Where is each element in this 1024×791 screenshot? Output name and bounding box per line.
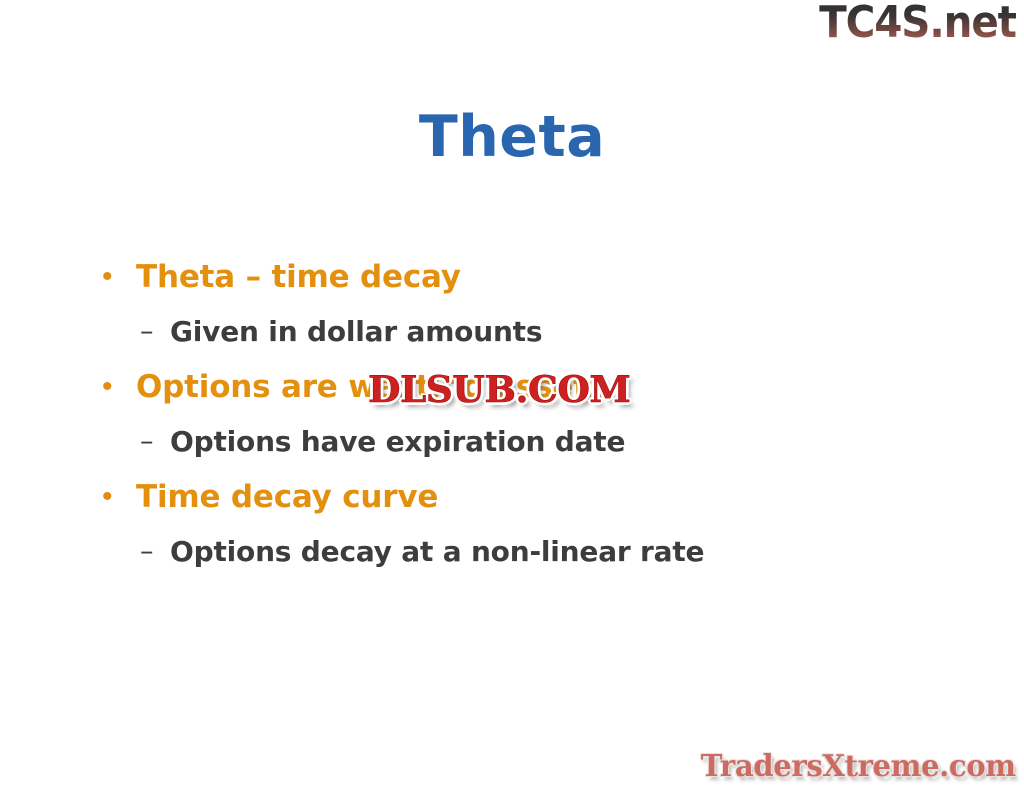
tc4s-brand-logo: TC4S.net [819, 0, 1016, 48]
list-item-label: Options have expiration date [170, 416, 625, 468]
list-item: • Time decay curve [96, 470, 916, 524]
bullet-marker-icon: • [96, 470, 136, 524]
list-item-label: Time decay curve [136, 470, 438, 524]
list-item: – Given in dollar amounts [96, 306, 916, 358]
dlsub-watermark: DLSUB.COM [368, 367, 630, 413]
tradersxtreme-footer-logo: TradersXtreme.com [701, 747, 1016, 787]
list-item: – Options have expiration date [96, 416, 916, 468]
list-item: • Theta – time decay [96, 250, 916, 304]
bullet-list: • Theta – time decay – Given in dollar a… [96, 250, 916, 580]
list-item-label: Given in dollar amounts [170, 306, 542, 358]
bullet-marker-icon: • [96, 250, 136, 304]
list-item-label: Options decay at a non-linear rate [170, 526, 704, 578]
page-title: Theta [0, 104, 1024, 170]
list-item: – Options decay at a non-linear rate [96, 526, 916, 578]
subbullet-dash-icon: – [140, 306, 170, 358]
bullet-marker-icon: • [96, 360, 136, 414]
list-item-label: Theta – time decay [136, 250, 461, 304]
subbullet-dash-icon: – [140, 526, 170, 578]
subbullet-dash-icon: – [140, 416, 170, 468]
presentation-slide: TC4S.net Theta • Theta – time decay – Gi… [0, 0, 1024, 791]
